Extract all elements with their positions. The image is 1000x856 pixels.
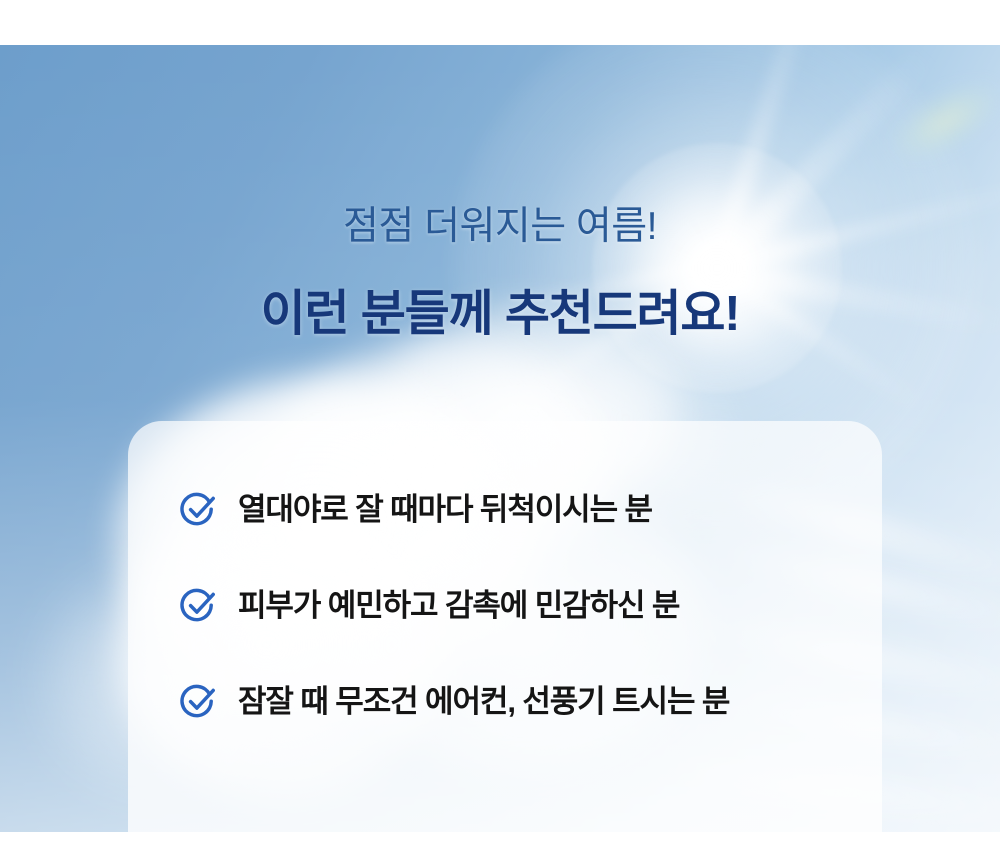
list-item-label: 피부가 예민하고 감촉에 민감하신 분 (238, 590, 679, 621)
banner-page: 점점 더워지는 여름! 이런 분들께 추천드려요! 열대야로 잘 때마다 뒤척이… (0, 0, 1000, 856)
recommendation-checklist: 열대야로 잘 때마다 뒤척이시는 분 피부가 예민하고 감촉에 민감하신 분 잠… (178, 489, 729, 721)
list-item: 피부가 예민하고 감촉에 민감하신 분 (178, 585, 729, 625)
check-circle-icon (178, 489, 218, 529)
bottom-white-band (0, 832, 1000, 856)
list-item-label: 잠잘 때 무조건 에어컨, 선풍기 트시는 분 (238, 686, 729, 717)
check-circle-icon (178, 585, 218, 625)
list-item: 열대야로 잘 때마다 뒤척이시는 분 (178, 489, 729, 529)
list-item-label: 열대야로 잘 때마다 뒤척이시는 분 (238, 494, 652, 525)
top-white-band (0, 0, 1000, 45)
recommendation-card: 열대야로 잘 때마다 뒤척이시는 분 피부가 예민하고 감촉에 민감하신 분 잠… (128, 421, 882, 832)
list-item: 잠잘 때 무조건 에어컨, 선풍기 트시는 분 (178, 681, 729, 721)
check-circle-icon (178, 681, 218, 721)
